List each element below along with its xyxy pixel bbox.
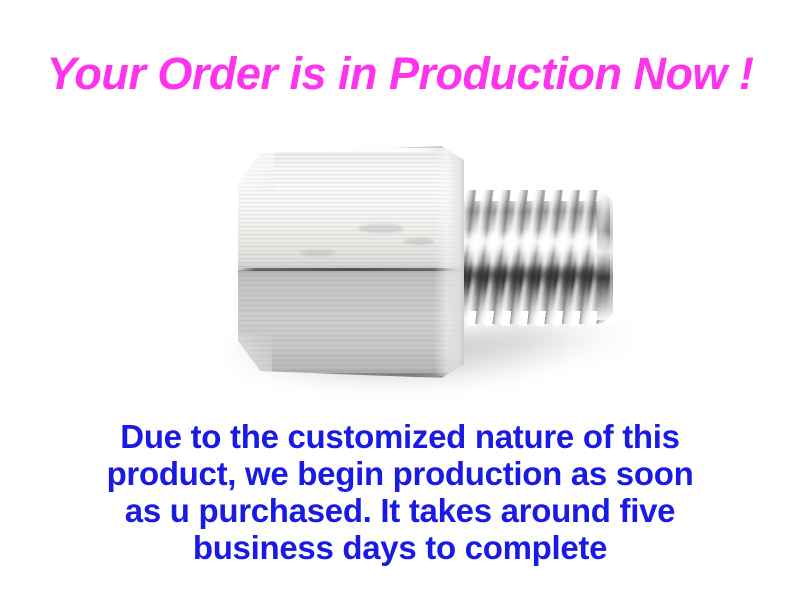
notice-line: business days to complete: [0, 529, 800, 566]
thread-teeth-top-edge: [442, 186, 618, 201]
surface-scuff: [300, 250, 336, 256]
product-image: [232, 138, 624, 388]
thread-teeth-bottom-edge: [442, 311, 618, 326]
surface-scuff: [358, 224, 404, 233]
surface-scuff: [404, 238, 434, 245]
promo-banner: Your Order is in Production Now !: [0, 0, 800, 600]
hex-edge-seam: [242, 268, 462, 271]
hex-right-chamfer: [434, 148, 466, 376]
thread-shadow-band: [448, 264, 606, 286]
hex-body: [238, 146, 464, 378]
thread-end-cap: [597, 194, 613, 320]
notice-line: product, we begin production as soon: [0, 455, 800, 492]
threaded-nipple: [446, 186, 610, 326]
product-drop-shadow-right: [442, 320, 632, 366]
hex-top-highlight: [256, 148, 456, 152]
production-notice: Due to the customized nature of this pro…: [0, 418, 800, 566]
page-title: Your Order is in Production Now !: [0, 50, 800, 99]
notice-line: Due to the customized nature of this: [0, 418, 800, 455]
thread-ridges: [446, 190, 610, 324]
thread-specular-highlight: [448, 230, 608, 256]
hex-bevel-top-left: [238, 150, 274, 192]
notice-line: as u purchased. It takes around five: [0, 492, 800, 529]
